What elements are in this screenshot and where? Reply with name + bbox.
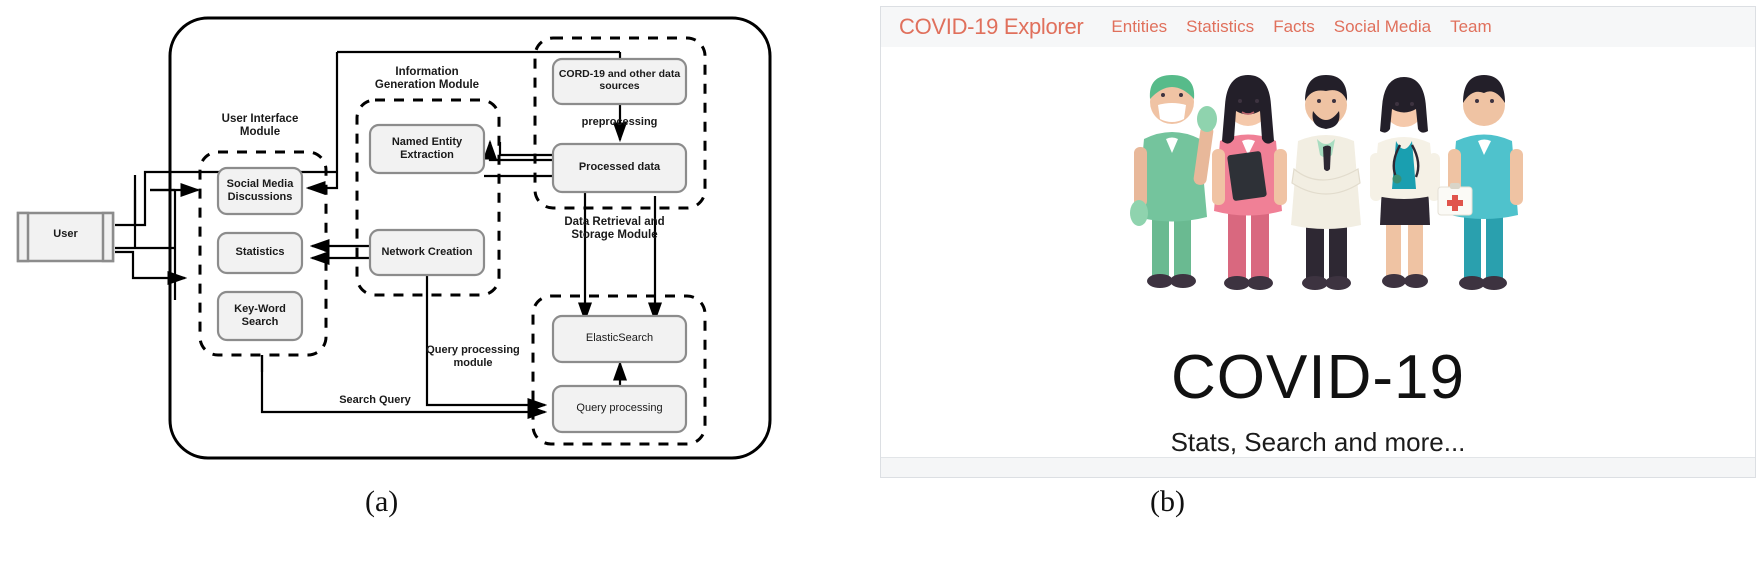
figure-root: User User Interface Module Social Media … [0, 0, 1758, 583]
infogen-line2: Generation Module [375, 79, 479, 91]
illustration-person-doctor-female [1370, 77, 1440, 288]
dataretr-line2: Storage Module [571, 229, 657, 241]
ui-module-line1: User Interface [222, 113, 299, 125]
qpmod-line1: Query processing [426, 344, 520, 356]
node-label-query-processing: Query processing [553, 402, 686, 414]
module-label-information-generation: Information Generation Module [355, 66, 499, 92]
illustration-person-doctor-male [1291, 75, 1361, 290]
social-media-line2: Discussions [228, 191, 293, 203]
node-label-network-creation: Network Creation [370, 246, 484, 258]
medical-team-illustration [1108, 57, 1528, 297]
node-label-social-media: Social Media Discussions [218, 178, 302, 204]
nav-link-statistics[interactable]: Statistics [1186, 17, 1254, 37]
nav-link-team[interactable]: Team [1450, 17, 1492, 37]
edge-label-preprocessing: preprocessing [553, 116, 686, 128]
node-label-statistics: Statistics [218, 246, 302, 258]
ui-module-line2: Module [240, 126, 280, 138]
node-label-keyword-search: Key-Word Search [218, 303, 302, 329]
nav-link-social-media[interactable]: Social Media [1334, 17, 1431, 37]
nav-link-facts[interactable]: Facts [1273, 17, 1315, 37]
webapp-screenshot-panel: COVID-19 Explorer Entities Statistics Fa… [880, 6, 1756, 478]
node-label-processed-data: Processed data [553, 161, 686, 173]
infogen-line1: Information [395, 66, 458, 78]
module-label-query-processing: Query processing module [408, 344, 538, 370]
navbar-brand[interactable]: COVID-19 Explorer [899, 14, 1083, 40]
subfigure-caption-a: (a) [365, 485, 398, 519]
node-label-elasticsearch: ElasticSearch [553, 332, 686, 344]
node-label-user: User [18, 228, 113, 240]
footer-bar [881, 457, 1755, 478]
cord19-line2: sources [599, 80, 639, 92]
edge-label-search-query: Search Query [305, 394, 445, 406]
module-label-data-retrieval: Data Retrieval and Storage Module [527, 216, 702, 242]
node-label-cord19: CORD-19 and other data sources [551, 68, 688, 92]
nav-link-entities[interactable]: Entities [1111, 17, 1167, 37]
keyword-line2: Search [242, 316, 279, 328]
navbar-links: Entities Statistics Facts Social Media T… [1111, 17, 1491, 37]
illustration-person-surgeon [1130, 75, 1217, 288]
architecture-labels: User User Interface Module Social Media … [0, 0, 880, 480]
qpmod-line2: module [453, 357, 492, 369]
keyword-line1: Key-Word [234, 303, 286, 315]
hero-section: COVID-19 Stats, Search and more... Paper… [881, 47, 1755, 478]
page-title: COVID-19 [881, 347, 1755, 409]
nee-line2: Extraction [400, 149, 454, 161]
architecture-diagram-panel: User User Interface Module Social Media … [0, 0, 880, 583]
page-subtitle: Stats, Search and more... [881, 427, 1755, 458]
dataretr-line1: Data Retrieval and [564, 216, 664, 228]
nee-line1: Named Entity [392, 136, 462, 148]
subfigure-caption-b: (b) [1150, 485, 1185, 519]
node-label-named-entity: Named Entity Extraction [370, 136, 484, 162]
social-media-line1: Social Media [227, 178, 294, 190]
illustration-person-nurse [1212, 75, 1287, 290]
module-label-user-interface: User Interface Module [218, 113, 302, 139]
illustration-person-paramedic [1438, 75, 1523, 290]
navbar: COVID-19 Explorer Entities Statistics Fa… [881, 7, 1755, 47]
cord19-line1: CORD-19 and other data [559, 68, 680, 80]
